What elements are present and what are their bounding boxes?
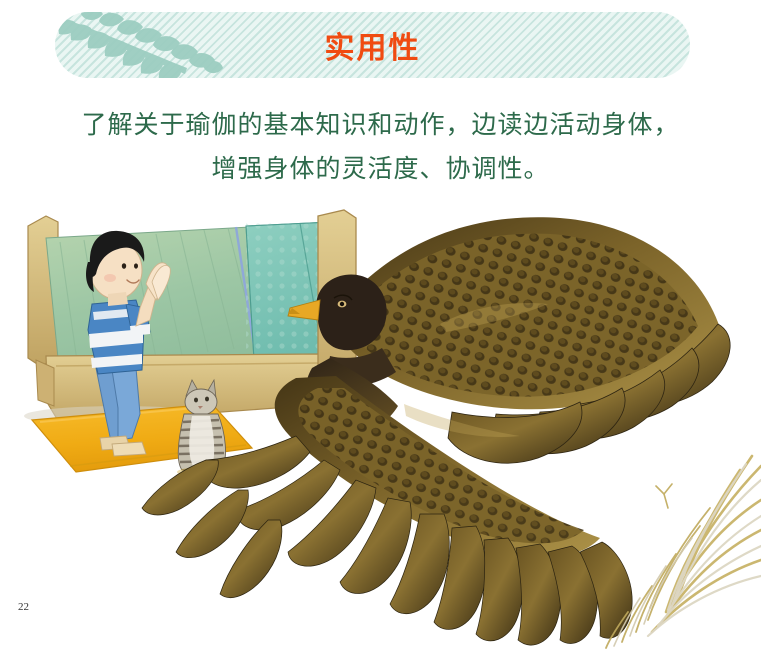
lead-line-2: 增强身体的灵活度、协调性。 — [40, 147, 721, 191]
section-header-banner: 实用性 — [55, 12, 690, 78]
page-number: 22 — [18, 601, 29, 613]
lead-line-1: 了解关于瑜伽的基本知识和动作，边读边活动身体， — [40, 103, 721, 147]
page-title: 实用性 — [55, 12, 690, 78]
illustration — [0, 208, 761, 651]
lead-paragraph: 了解关于瑜伽的基本知识和动作，边读边活动身体， 增强身体的灵活度、协调性。 — [40, 103, 721, 191]
